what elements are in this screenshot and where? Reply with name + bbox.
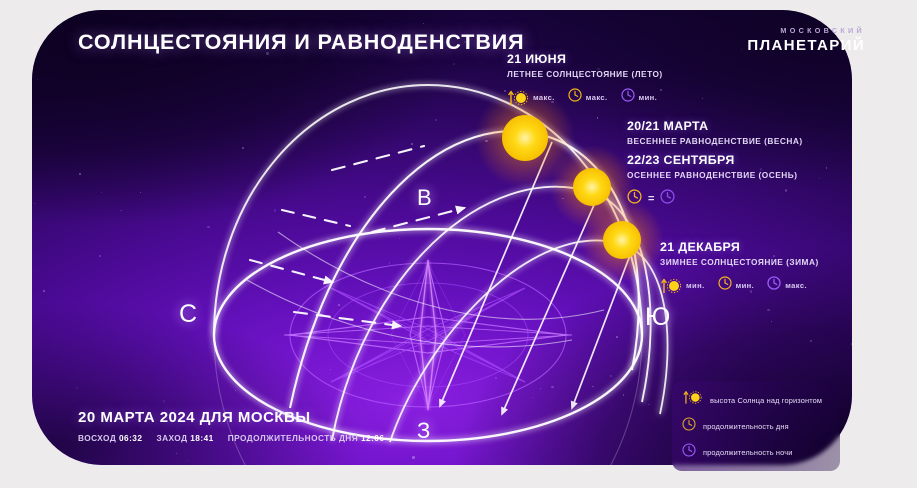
daylength-value: 12:06 bbox=[361, 433, 384, 443]
daylength-label: ПРОДОЛЖИТЕЛЬНОСТЬ ДНЯ bbox=[228, 433, 358, 443]
planetarium-logo: МОСКОВСКИЙ ПЛАНЕТАРИЙ bbox=[747, 26, 865, 54]
sun-marker-winter bbox=[580, 198, 664, 282]
infographic-canvas: СОЛНЦЕСТОЯНИЯ И РАВНОДЕНСТВИЯ МОСКОВСКИЙ… bbox=[0, 0, 917, 488]
page-title: СОЛНЦЕСТОЯНИЯ И РАВНОДЕНСТВИЯ bbox=[78, 30, 524, 55]
autumn-equinox-date: 22/23 СЕНТЯБРЯ bbox=[627, 153, 803, 167]
night-duration-clock-icon bbox=[621, 88, 635, 107]
summer-metrics: макс. макс. мин. bbox=[507, 88, 663, 107]
cardinal-west: З bbox=[417, 418, 430, 444]
summer-metric-night-value: мин. bbox=[639, 93, 658, 102]
motion-arrow-2 bbox=[282, 210, 350, 226]
winter-metric-altitude-value: мин. bbox=[686, 281, 705, 290]
winter-date: 21 ДЕКАБРЯ bbox=[660, 240, 819, 254]
summer-metric-night: мин. bbox=[621, 88, 658, 107]
logo-top-line: МОСКОВСКИЙ bbox=[747, 26, 865, 35]
sun-altitude-icon bbox=[507, 90, 529, 106]
annotation-equinoxes: 20/21 МАРТА ВЕСЕННЕЕ РАВНОДЕНСТВИЕ (ВЕСН… bbox=[627, 119, 803, 209]
sun-altitude-icon bbox=[682, 390, 703, 410]
summer-metric-altitude: макс. bbox=[507, 90, 555, 106]
logo-main-line: ПЛАНЕТАРИЙ bbox=[747, 37, 865, 54]
summer-metric-altitude-value: макс. bbox=[533, 93, 555, 102]
autumn-equinox-subtitle: ОСЕННЕЕ РАВНОДЕНСТВИЕ (ОСЕНЬ) bbox=[627, 170, 803, 180]
legend-label-altitude: высота Солнца над горизонтом bbox=[710, 396, 822, 405]
sun-altitude-icon bbox=[660, 278, 682, 294]
cardinal-south: Ю bbox=[645, 303, 670, 332]
moscow-info-block: 20 МАРТА 2024 ДЛЯ МОСКВЫ ВОСХОД 06:32 ЗА… bbox=[78, 409, 384, 443]
winter-metric-day: мин. bbox=[718, 276, 755, 295]
motion-arrow-1 bbox=[250, 260, 332, 282]
info-headline: 20 МАРТА 2024 ДЛЯ МОСКВЫ bbox=[78, 409, 384, 426]
winter-metric-night: макс. bbox=[767, 276, 807, 295]
cardinal-east: В bbox=[417, 185, 432, 211]
equinox-metrics: = bbox=[627, 189, 803, 209]
legend-panel: высота Солнца над горизонтом продолжител… bbox=[672, 381, 840, 471]
day-duration-clock-icon bbox=[718, 276, 732, 295]
day-duration-clock-icon bbox=[568, 88, 582, 107]
winter-metric-night-value: макс. bbox=[785, 281, 807, 290]
winter-metric-altitude: мин. bbox=[660, 278, 705, 294]
sunset-value: 18:41 bbox=[190, 433, 213, 443]
summer-date: 21 ИЮНЯ bbox=[507, 52, 663, 66]
daylength-cell: ПРОДОЛЖИТЕЛЬНОСТЬ ДНЯ 12:06 bbox=[228, 433, 385, 443]
day-duration-clock-icon bbox=[627, 189, 642, 209]
legend-item-altitude: высота Солнца над горизонтом bbox=[682, 390, 831, 410]
legend-label-day: продолжительность дня bbox=[703, 422, 789, 431]
info-values-row: ВОСХОД 06:32 ЗАХОД 18:41 ПРОДОЛЖИТЕЛЬНОС… bbox=[78, 433, 384, 443]
legend-label-night: продолжительность ночи bbox=[703, 448, 793, 457]
sunrise-label: ВОСХОД bbox=[78, 433, 116, 443]
equinox-equals-sign: = bbox=[648, 193, 654, 205]
winter-metrics: мин. мин. макс. bbox=[660, 276, 819, 295]
cardinal-north: С bbox=[179, 300, 197, 329]
summer-subtitle: ЛЕТНЕЕ СОЛНЦЕСТОЯНИЕ (ЛЕТО) bbox=[507, 69, 663, 79]
winter-metric-day-value: мин. bbox=[736, 281, 755, 290]
night-duration-clock-icon bbox=[682, 443, 696, 462]
sunset-cell: ЗАХОД 18:41 bbox=[156, 433, 213, 443]
spring-equinox-subtitle: ВЕСЕННЕЕ РАВНОДЕНСТВИЕ (ВЕСНА) bbox=[627, 136, 803, 146]
annotation-winter-solstice: 21 ДЕКАБРЯ ЗИМНЕЕ СОЛНЦЕСТОЯНИЕ (ЗИМА) м… bbox=[660, 240, 819, 295]
compass-rose bbox=[284, 260, 572, 410]
legend-item-night: продолжительность ночи bbox=[682, 443, 831, 462]
legend-item-day: продолжительность дня bbox=[682, 417, 831, 436]
summer-metric-day: макс. bbox=[568, 88, 608, 107]
day-duration-clock-icon bbox=[682, 417, 696, 436]
sunrise-cell: ВОСХОД 06:32 bbox=[78, 433, 142, 443]
sunrise-value: 06:32 bbox=[119, 433, 142, 443]
motion-arrow-5 bbox=[332, 146, 424, 170]
night-duration-clock-icon bbox=[767, 276, 781, 295]
celestial-sphere-outline-back bbox=[214, 335, 642, 465]
summer-metric-day-value: макс. bbox=[586, 93, 608, 102]
spring-equinox-date: 20/21 МАРТА bbox=[627, 119, 803, 133]
annotation-summer-solstice: 21 ИЮНЯ ЛЕТНЕЕ СОЛНЦЕСТОЯНИЕ (ЛЕТО) макс… bbox=[507, 52, 663, 107]
winter-subtitle: ЗИМНЕЕ СОЛНЦЕСТОЯНИЕ (ЗИМА) bbox=[660, 257, 819, 267]
sunset-label: ЗАХОД bbox=[156, 433, 187, 443]
night-duration-clock-icon bbox=[660, 189, 675, 209]
